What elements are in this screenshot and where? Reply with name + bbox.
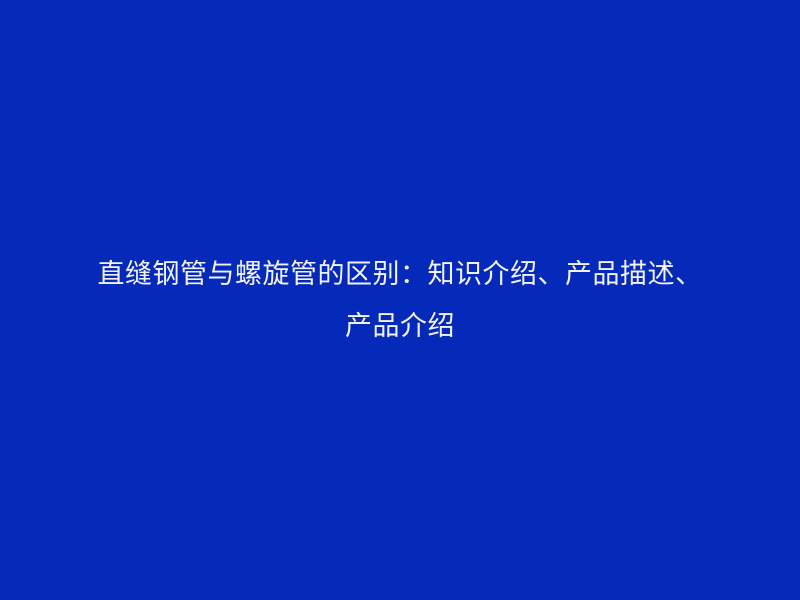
title-line-1: 直缝钢管与螺旋管的区别：知识介绍、产品描述、 (50, 248, 750, 300)
title-slide: 直缝钢管与螺旋管的区别：知识介绍、产品描述、 产品介绍 (0, 0, 800, 600)
page-title: 直缝钢管与螺旋管的区别：知识介绍、产品描述、 产品介绍 (50, 248, 750, 352)
title-line-2: 产品介绍 (50, 300, 750, 352)
